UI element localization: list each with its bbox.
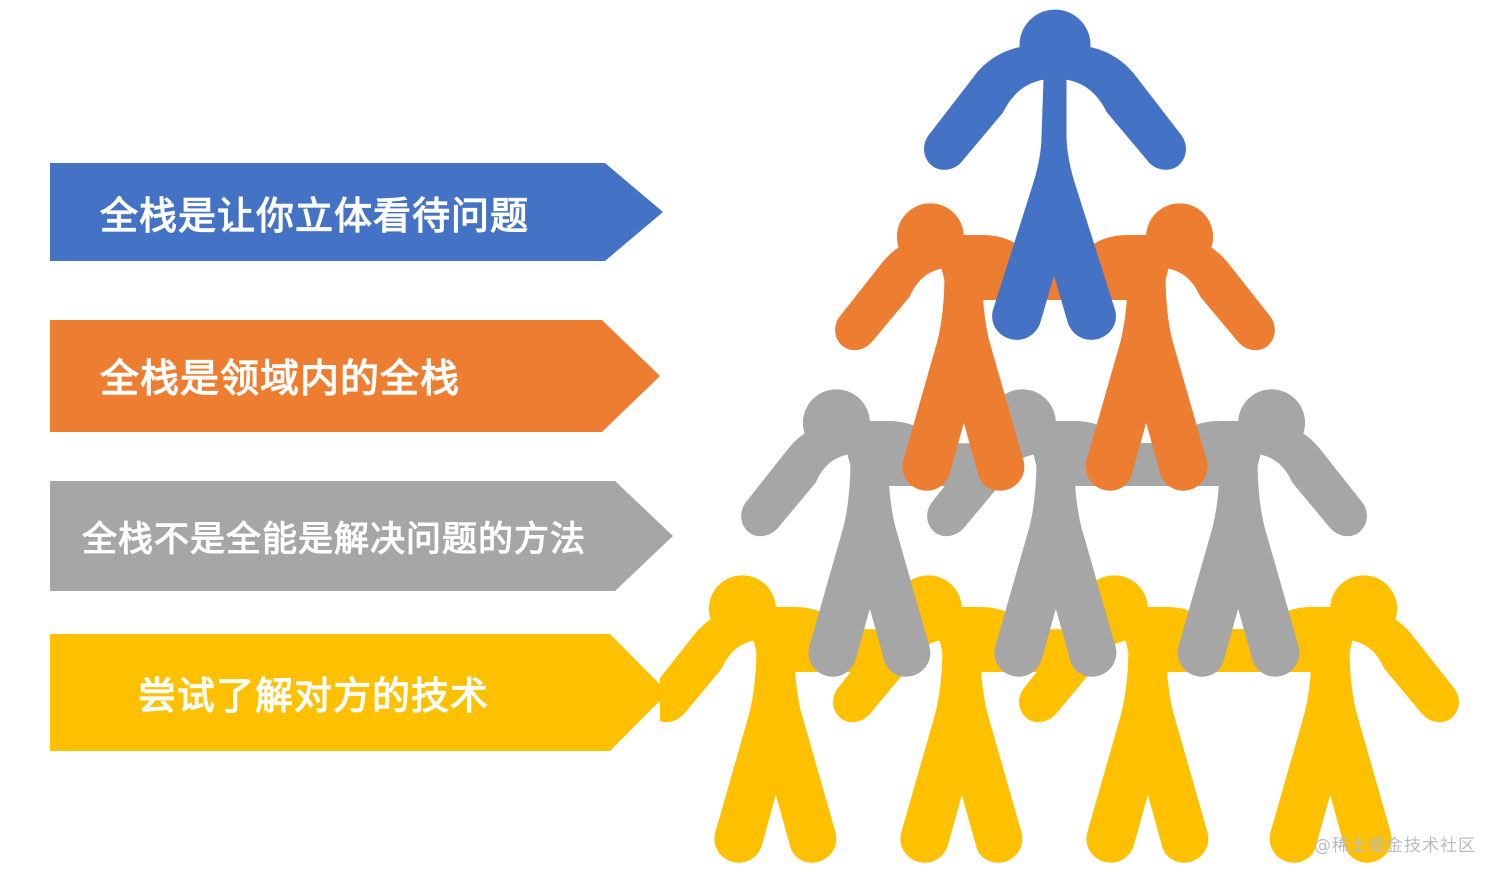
banner-label-4: 尝试了解对方的技术 [138,665,489,720]
banner-item-2[interactable]: 全栈是领域内的全栈 [50,320,660,432]
slide-canvas: 全栈是让你立体看待问题 全栈是领域内的全栈 全栈不是全能是解决问题的方法 尝试了… [0,0,1494,878]
person-figure-yellow-1 [660,575,906,862]
banner-item-4[interactable]: 尝试了解对方的技术 [50,634,668,751]
banner-item-1[interactable]: 全栈是让你立体看待问题 [50,163,663,261]
watermark-text: @稀土掘金技术社区 [1314,831,1476,856]
banner-label-2: 全栈是领域内的全栈 [100,348,460,404]
person-figure-yellow-4 [1200,575,1459,862]
person-figure-yellow-2 [833,575,1092,862]
banner-item-3[interactable]: 全栈不是全能是解决问题的方法 [50,481,673,591]
human-pyramid-illustration [660,0,1494,878]
banner-list: 全栈是让你立体看待问题 全栈是领域内的全栈 全栈不是全能是解决问题的方法 尝试了… [0,0,680,878]
person-figure-yellow-3 [1019,575,1278,862]
pyramid-svg [660,0,1494,878]
banner-label-3: 全栈不是全能是解决问题的方法 [82,511,586,562]
banner-label-1: 全栈是让你立体看待问题 [100,185,529,240]
